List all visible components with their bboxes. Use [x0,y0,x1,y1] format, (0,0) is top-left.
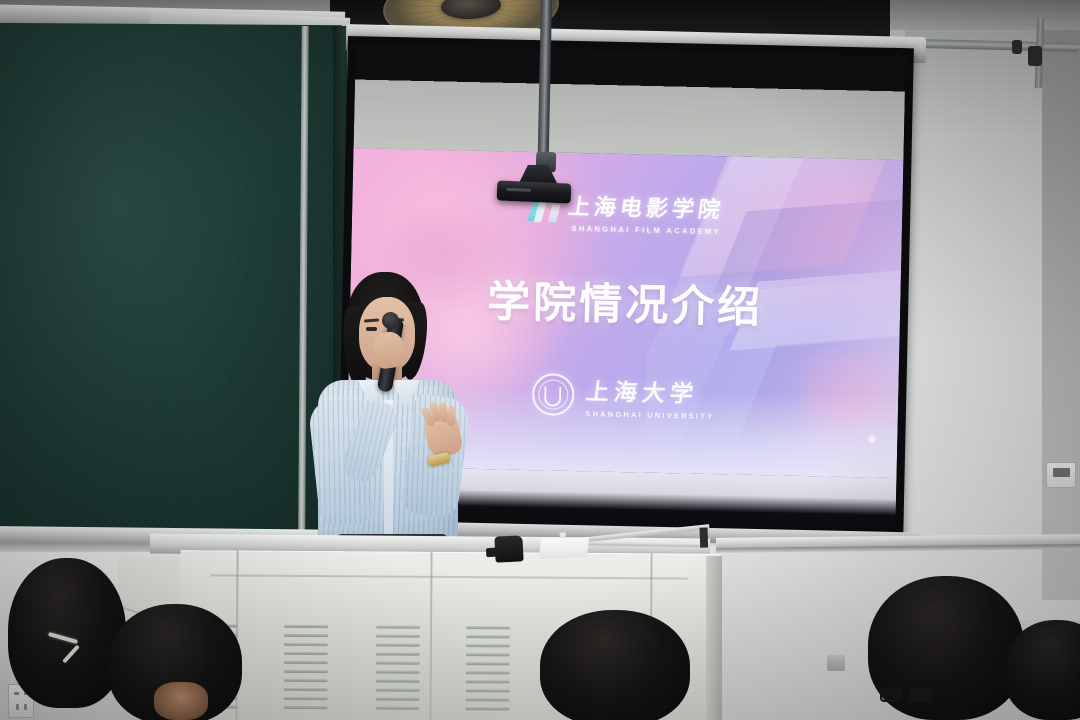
university-english-name: SHANGHAI UNIVERSITY [585,409,714,421]
list-item [530,604,720,720]
academy-chinese-name: 上海电影学院 [567,189,728,224]
podium-vent-group [465,626,510,718]
student-face-patch [154,682,208,720]
podium-door-split [429,552,432,720]
academy-logo-text: 上海电影学院 SHANGHAI FILM ACADEMY [568,189,725,236]
green-chalkboard [0,23,342,535]
podium-camera-device[interactable] [494,535,523,562]
projector-hotspot [868,435,875,442]
ceiling-projector [497,180,572,203]
screen-top-band [354,44,906,160]
right-wall-outlet-icon [827,655,845,671]
university-chinese-name: 上海大学 [584,372,717,409]
presenter-eye-left [366,327,377,331]
shanghai-university-seal-icon [531,373,574,416]
presenter [300,272,480,572]
eyeglasses-icon [880,688,934,702]
university-logo: 上海大学 SHANGHAI UNIVERSITY [531,371,715,421]
academy-english-name: SHANGHAI FILM ACADEMY [571,224,721,236]
student-head [540,610,690,720]
list-item [98,590,278,720]
wall-control-panel[interactable] [1046,462,1076,488]
lecture-hall-photo: 上海电影学院 SHANGHAI FILM ACADEMY 学院情况介绍 上海大学… [0,0,1080,720]
university-logo-text: 上海大学 SHANGHAI UNIVERSITY [585,372,715,421]
slide-title: 学院情况介绍 [487,267,764,335]
podium-door-seam-top [210,574,688,579]
list-item [1000,610,1080,720]
podium-paper-sheet [539,537,589,559]
conduit-clip [1012,40,1022,54]
conduit-clip [1028,46,1042,66]
podium-vent-group [375,625,420,717]
far-right-wall [1042,0,1080,600]
podium-vent-group [283,625,328,717]
student-head [1004,620,1080,720]
